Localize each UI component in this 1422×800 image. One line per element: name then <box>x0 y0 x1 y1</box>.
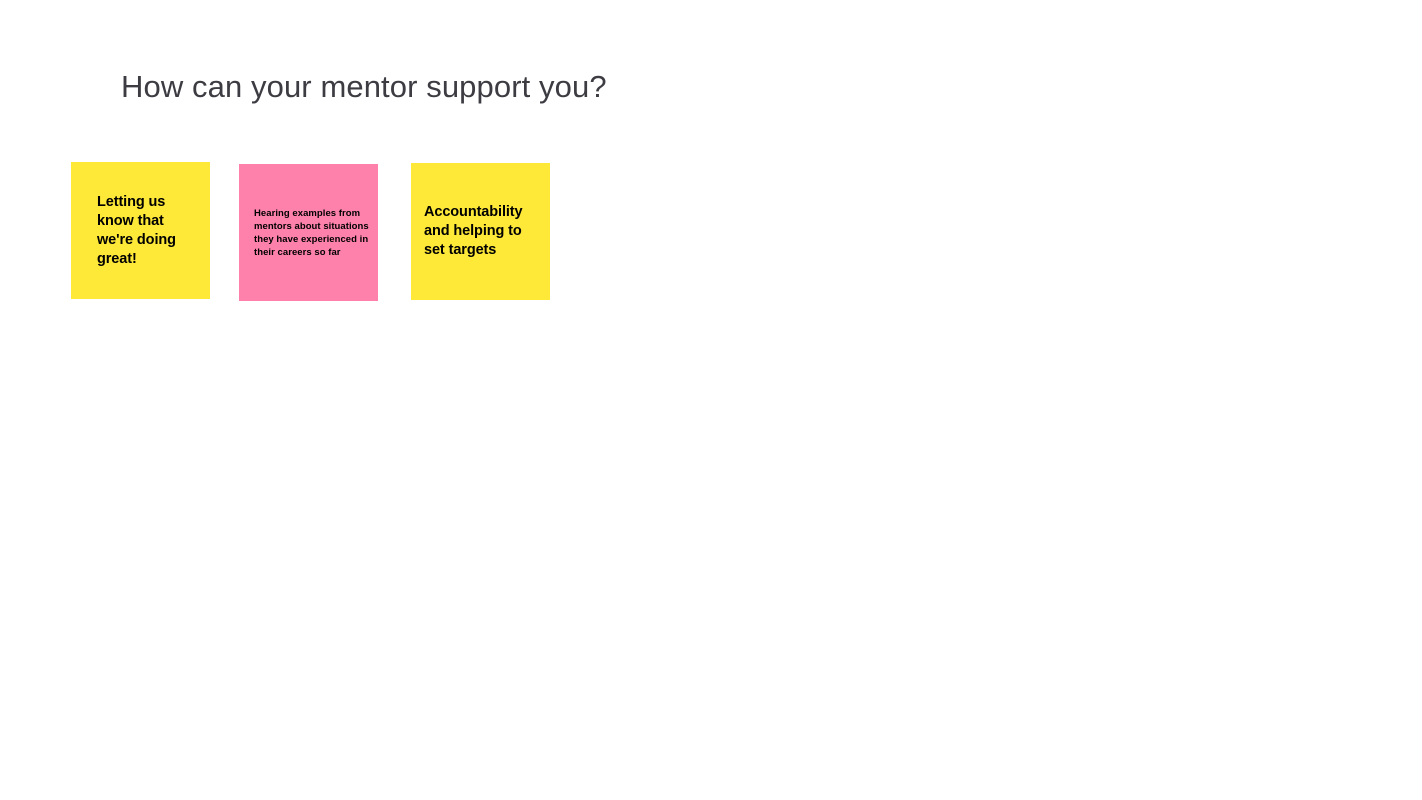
sticky-note[interactable]: Accountability and helping to set target… <box>411 163 550 300</box>
sticky-note[interactable]: Hearing examples from mentors about situ… <box>239 164 378 301</box>
sticky-note-text: Letting us know that we're doing great! <box>97 193 198 269</box>
sticky-note-text: Hearing examples from mentors about situ… <box>254 207 369 259</box>
whiteboard-canvas[interactable]: How can your mentor support you? Letting… <box>0 0 1422 800</box>
sticky-note[interactable]: Letting us know that we're doing great! <box>71 162 210 299</box>
sticky-notes-group: Letting us know that we're doing great! … <box>0 0 1422 320</box>
sticky-note-text: Accountability and helping to set target… <box>424 203 545 260</box>
